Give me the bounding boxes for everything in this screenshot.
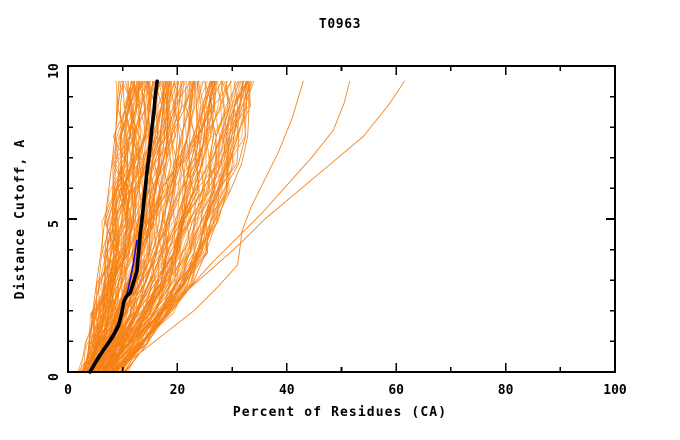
y-tick-label-0: 0 (47, 373, 62, 381)
x-tick-label-80: 80 (498, 383, 514, 398)
x-tick-label-100: 100 (603, 383, 627, 398)
y-axis-title: Distance Cutoff, A (13, 139, 28, 300)
chart-svg: T0963 020406080100 0510 Percent of Resid… (0, 0, 680, 440)
x-axis-title: Percent of Residues (CA) (233, 405, 447, 420)
x-tick-label-60: 60 (388, 383, 404, 398)
chart-figure: T0963 020406080100 0510 Percent of Resid… (0, 0, 680, 440)
x-tick-label-40: 40 (279, 383, 295, 398)
x-tick-label-20: 20 (170, 383, 186, 398)
x-tick-label-0: 0 (64, 383, 72, 398)
y-tick-label-5: 5 (47, 220, 62, 228)
chart-title: T0963 (319, 17, 361, 32)
y-tick-label-10: 10 (47, 63, 62, 79)
